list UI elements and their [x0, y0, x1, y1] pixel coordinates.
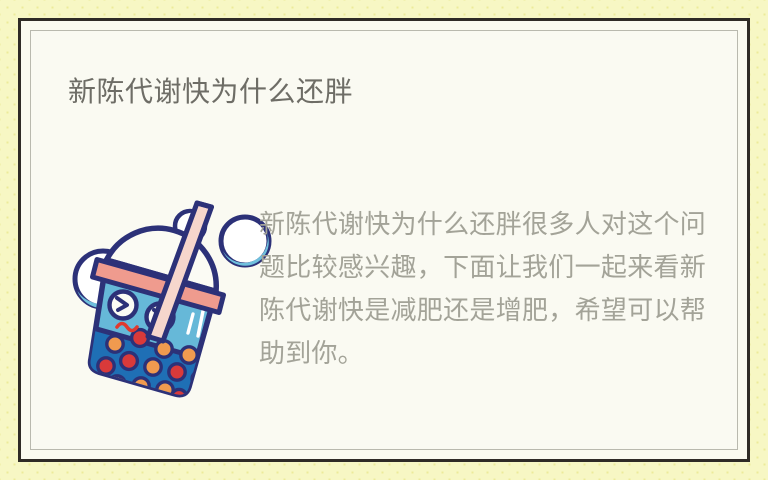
card-content: 新陈代谢快为什么还胖	[31, 31, 737, 449]
card-outer-frame: 新陈代谢快为什么还胖	[18, 18, 750, 462]
bubble-tea-cup-illustration	[43, 181, 273, 411]
article-body-text: 新陈代谢快为什么还胖很多人对这个问题比较感兴趣，下面让我们一起来看新陈代谢快是减…	[259, 203, 706, 375]
face-eye-left	[110, 292, 137, 319]
page-background: 新陈代谢快为什么还胖	[0, 0, 768, 480]
page-title: 新陈代谢快为什么还胖	[68, 75, 353, 109]
card-inner-frame: 新陈代谢快为什么还胖	[30, 30, 738, 450]
